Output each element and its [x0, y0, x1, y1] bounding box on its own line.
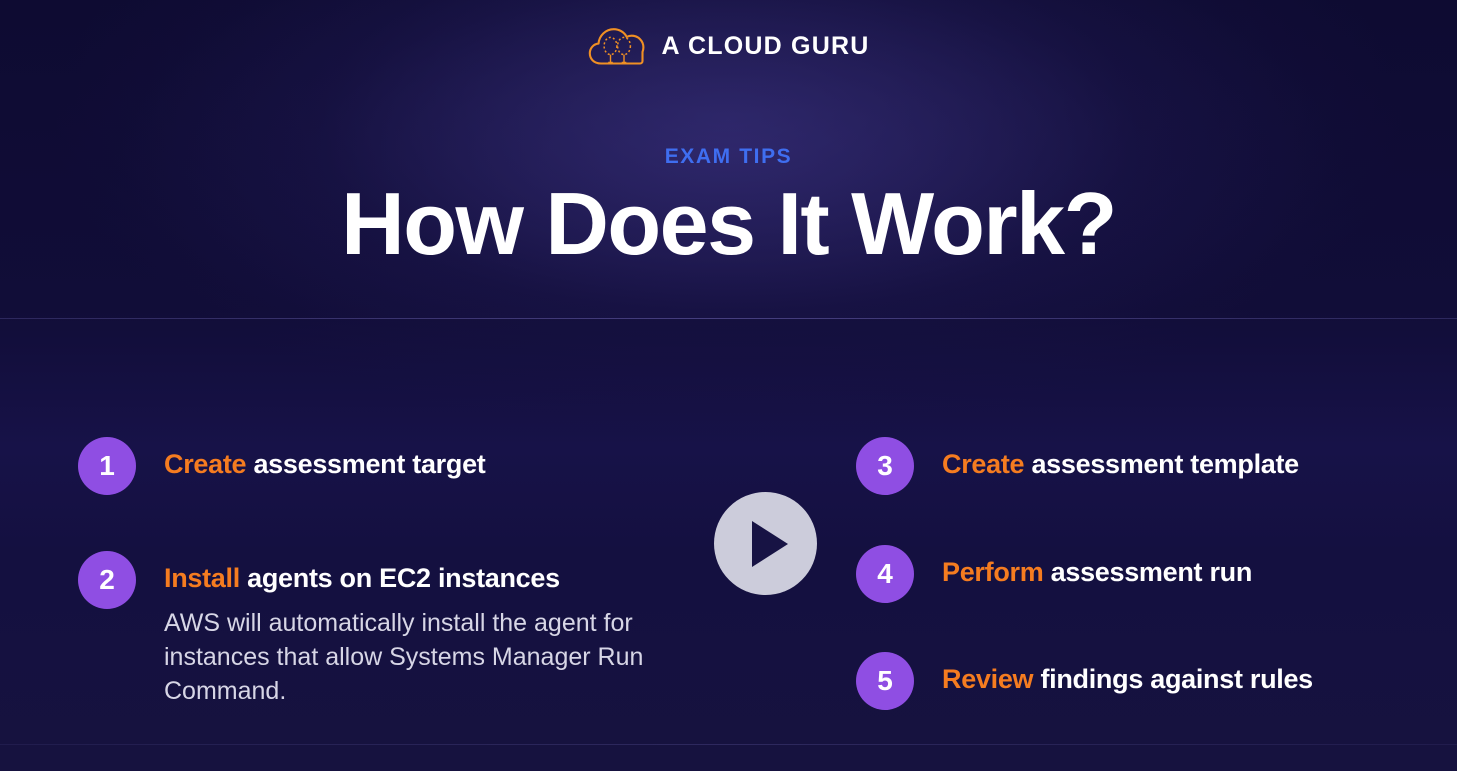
- footer-divider: [0, 744, 1457, 745]
- slide-root: A CLOUD GURU EXAM TIPS How Does It Work?…: [0, 0, 1457, 771]
- step-item-5: 5 Review findings against rules: [856, 652, 1313, 710]
- step-keyword: Create: [164, 449, 246, 479]
- step-heading: Review findings against rules: [942, 664, 1313, 695]
- step-number-badge: 2: [78, 551, 136, 609]
- step-item-2: 2 Install agents on EC2 instances AWS wi…: [78, 551, 684, 708]
- play-video-button[interactable]: [714, 492, 817, 595]
- step-heading-rest: assessment template: [1024, 449, 1299, 479]
- step-number-badge: 3: [856, 437, 914, 495]
- step-content: Review findings against rules: [942, 652, 1313, 695]
- step-item-4: 4 Perform assessment run: [856, 545, 1252, 603]
- brand-lockup: A CLOUD GURU: [0, 25, 1457, 67]
- step-content: Create assessment target: [164, 437, 485, 480]
- step-heading: Perform assessment run: [942, 557, 1252, 588]
- step-content: Perform assessment run: [942, 545, 1252, 588]
- step-content: Install agents on EC2 instances AWS will…: [164, 551, 684, 708]
- step-number-badge: 5: [856, 652, 914, 710]
- step-number-badge: 4: [856, 545, 914, 603]
- step-keyword: Review: [942, 664, 1033, 694]
- step-item-3: 3 Create assessment template: [856, 437, 1299, 495]
- step-heading-rest: assessment run: [1043, 557, 1252, 587]
- step-number-badge: 1: [78, 437, 136, 495]
- step-heading-rest: findings against rules: [1033, 664, 1313, 694]
- eyebrow-label: EXAM TIPS: [0, 145, 1457, 169]
- step-heading-rest: assessment target: [246, 449, 485, 479]
- page-title: How Does It Work?: [0, 178, 1457, 270]
- step-item-1: 1 Create assessment target: [78, 437, 485, 495]
- step-heading: Create assessment template: [942, 449, 1299, 480]
- step-keyword: Create: [942, 449, 1024, 479]
- step-keyword: Perform: [942, 557, 1043, 587]
- step-heading: Create assessment target: [164, 449, 485, 480]
- cloud-guru-logo-icon: [588, 25, 646, 67]
- step-description: AWS will automatically install the agent…: [164, 607, 684, 708]
- step-heading-rest: agents on EC2 instances: [240, 563, 560, 593]
- step-heading: Install agents on EC2 instances: [164, 563, 684, 594]
- play-triangle-icon: [752, 521, 788, 567]
- step-content: Create assessment template: [942, 437, 1299, 480]
- step-keyword: Install: [164, 563, 240, 593]
- brand-name: A CLOUD GURU: [662, 34, 870, 59]
